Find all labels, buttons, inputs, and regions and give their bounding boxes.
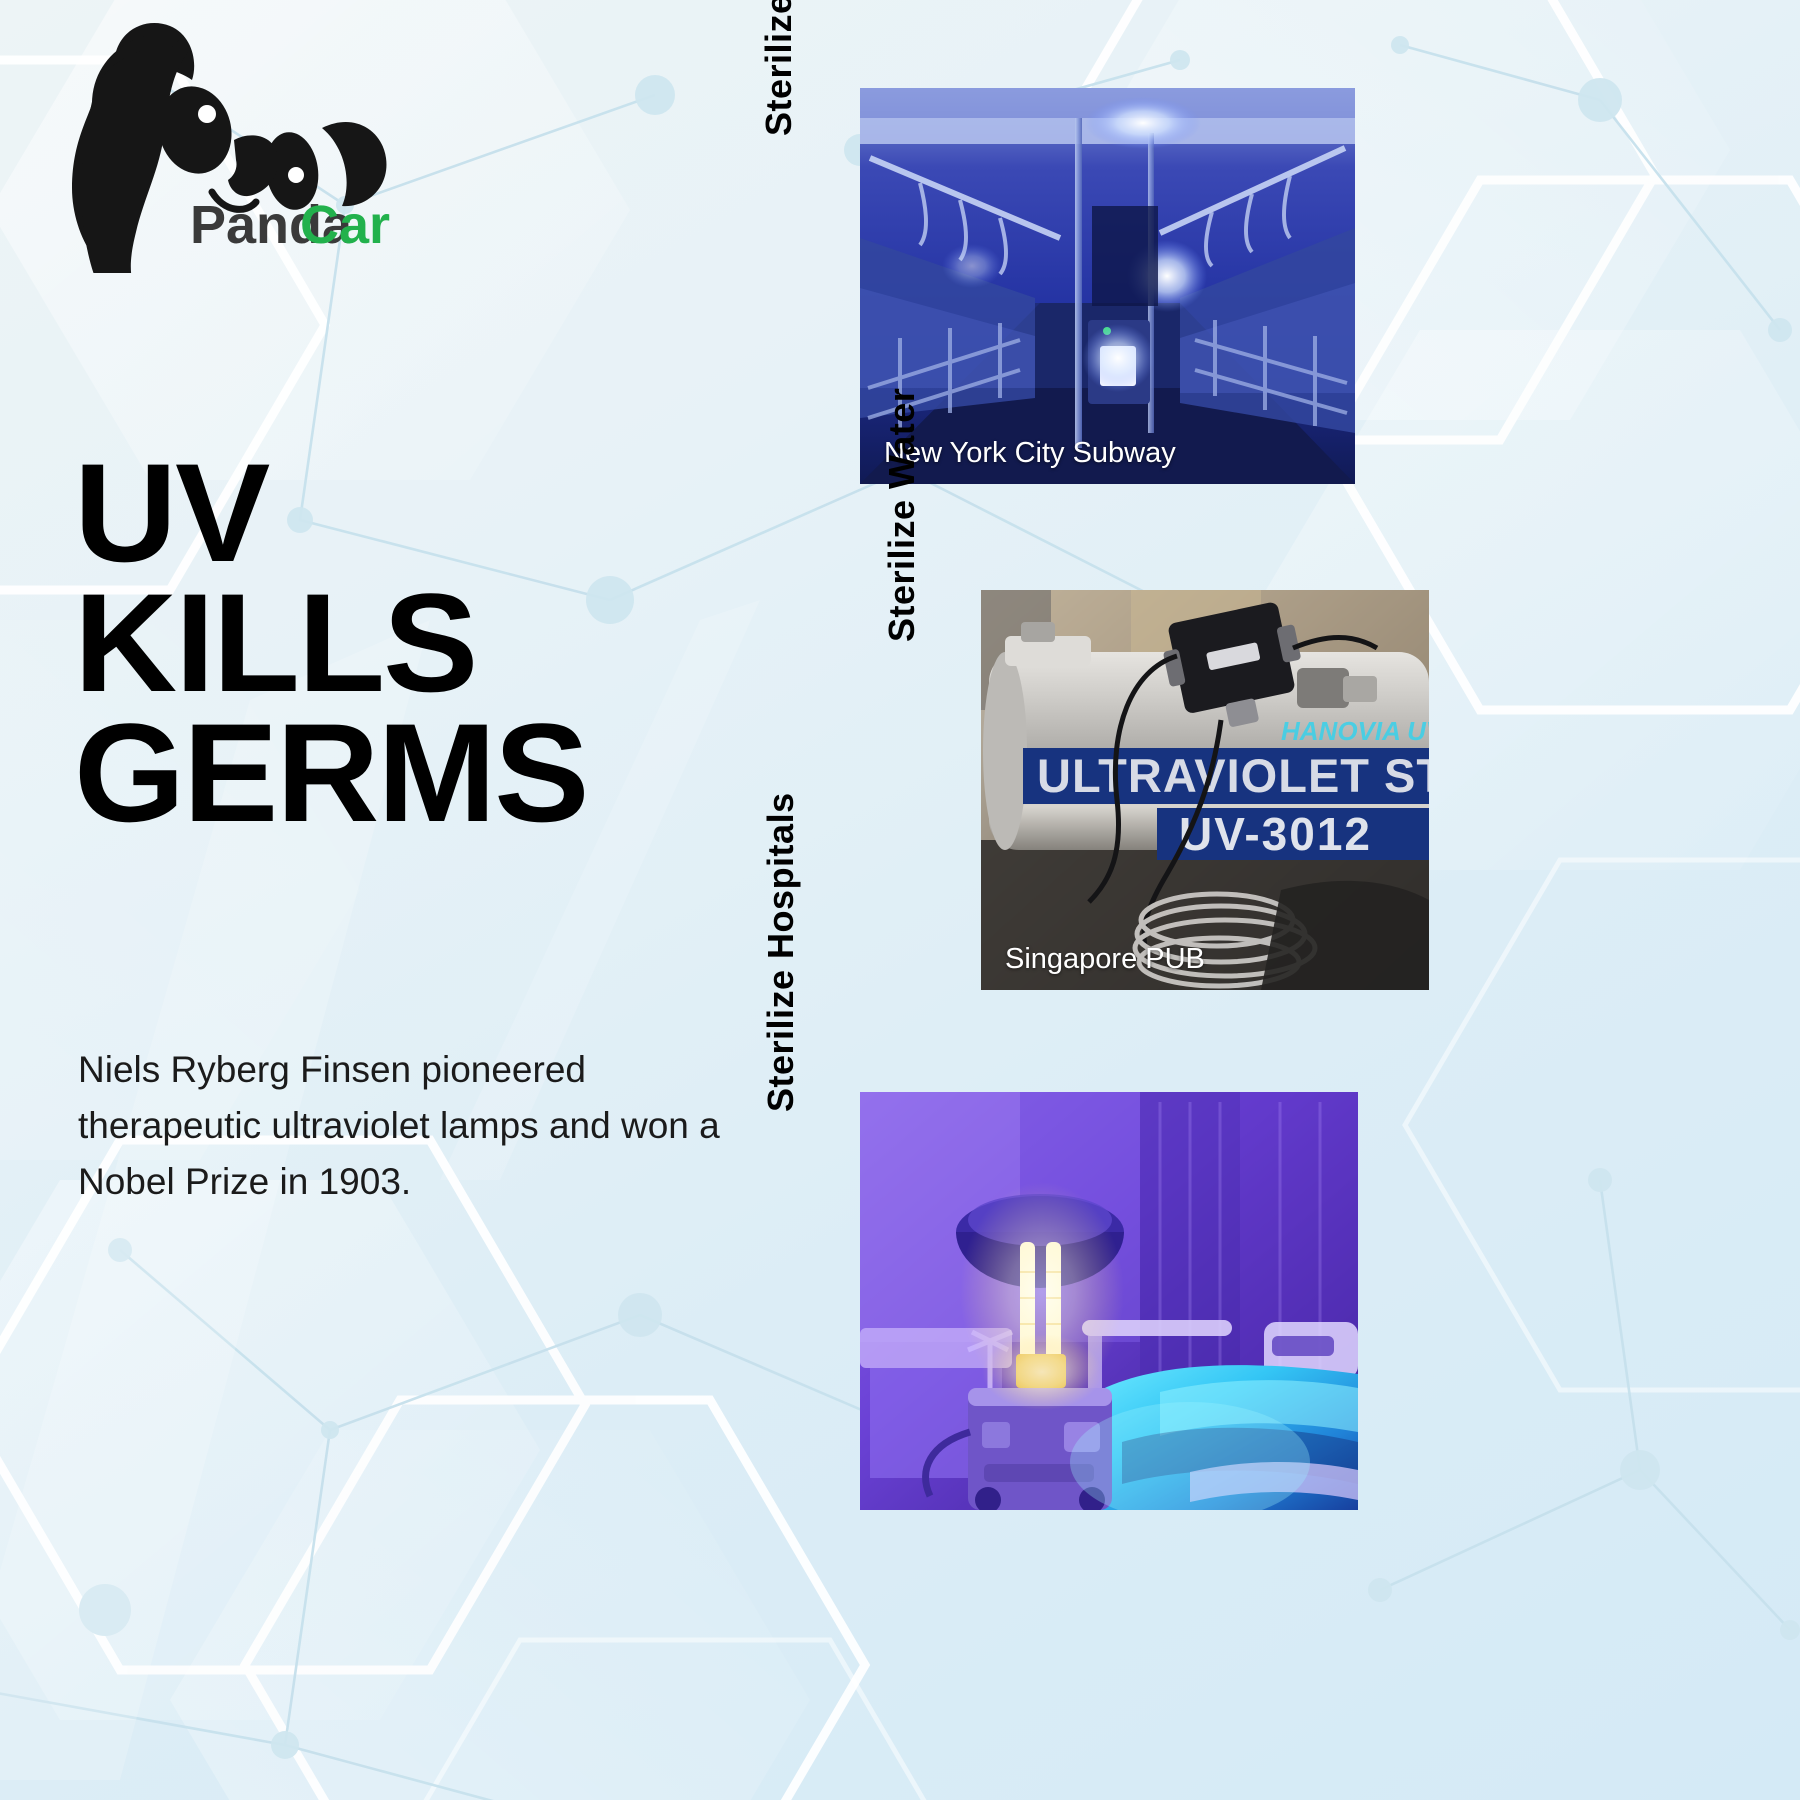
body-paragraph: Niels Ryberg Finsen pioneered therapeuti… [78, 1042, 758, 1211]
headline-line-2: KILLS [74, 578, 849, 708]
brand-logo[interactable]: Panda Care [52, 18, 392, 273]
photo-caption-singapore: Singapore PUB [1005, 943, 1205, 976]
photo-caption-subway: New York City Subway [884, 437, 1176, 470]
photo-subway-uv: New York City Subway [860, 88, 1355, 484]
photo-label-uv-3012: UV-3012 [1179, 808, 1372, 860]
card-sterilize-trains[interactable]: Sterilize Trains [790, 88, 1360, 488]
card-label-hospitals: Sterilize Hospitals [760, 792, 802, 1112]
photo-label-ultraviolet-sterilizer: ULTRAVIOLET STERILIZER [1037, 749, 1429, 802]
photo-label-brand: HANOVIA UV [1281, 716, 1429, 746]
headline-line-3: GERMS [74, 708, 849, 838]
headline-line-1: UV [74, 448, 849, 578]
card-sterilize-water[interactable]: Sterilize Water [915, 590, 1430, 990]
card-sterilize-hospitals[interactable]: Sterilize Hospitals [790, 1092, 1360, 1512]
brand-name-green: Care [300, 195, 392, 255]
poster-canvas: Panda Care UV KILLS GERMS Niels Ryberg F… [0, 0, 1800, 1800]
card-label-water: Sterilize Water [881, 388, 923, 642]
photo-uv-water-sterilizer: ULTRAVIOLET STERILIZER UV-3012 HANOVIA U… [981, 590, 1429, 990]
photo-uv-hospital-robot [860, 1092, 1358, 1510]
card-label-trains: Sterilize Trains [758, 0, 800, 136]
page-title: UV KILLS GERMS [74, 448, 849, 839]
